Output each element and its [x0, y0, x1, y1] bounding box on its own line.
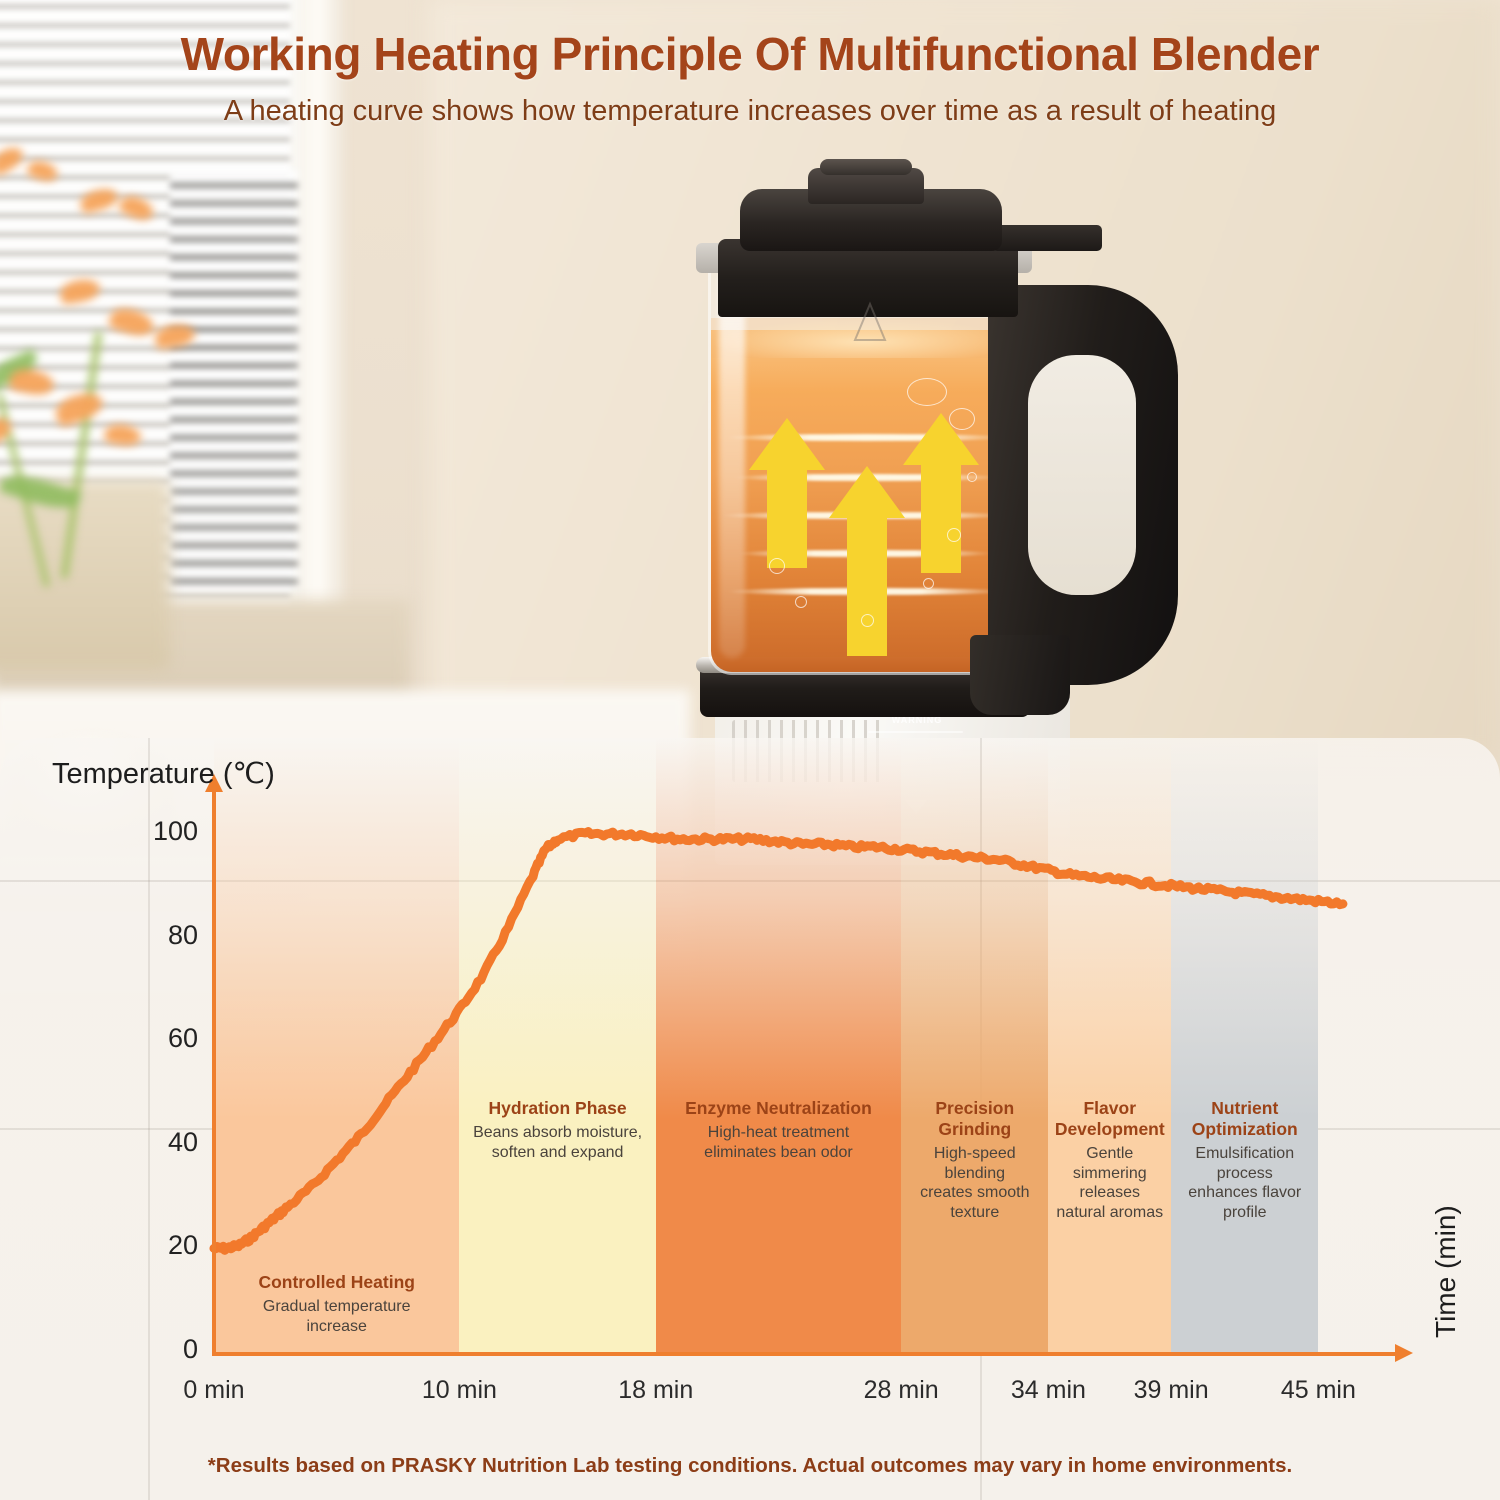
- phase-title: Hydration Phase: [465, 1098, 649, 1119]
- x-axis-line: [212, 1352, 1397, 1356]
- phase-band: [656, 738, 901, 1352]
- x-tick-label: 45 min: [1238, 1376, 1398, 1405]
- y-tick-label: 20: [108, 1230, 198, 1261]
- steam-vent-icon: [845, 300, 895, 348]
- x-tick-label: 28 min: [821, 1376, 981, 1405]
- phase-band: [901, 738, 1048, 1352]
- phase-title: Nutrient Optimization: [1177, 1098, 1312, 1140]
- x-tick-label: 0 min: [134, 1376, 294, 1405]
- y-tick-label: 80: [108, 920, 198, 951]
- x-axis-label: Time (min): [1430, 1205, 1462, 1338]
- handle-lower-joint: [970, 635, 1070, 715]
- blender-product-image: WARNING: [640, 165, 1220, 765]
- phase-title: Precision Grinding: [907, 1098, 1042, 1140]
- y-tick-label: 60: [108, 1023, 198, 1054]
- phase-description: Emulsification processenhances flavor pr…: [1177, 1144, 1312, 1222]
- y-tick-label: 100: [108, 816, 198, 847]
- phase-label: Flavor DevelopmentGentle simmeringreleas…: [1048, 1098, 1171, 1222]
- lid-cap-top: [820, 159, 912, 175]
- phase-band: [459, 738, 655, 1352]
- y-tick-label: 0: [108, 1334, 198, 1365]
- footnote-text: *Results based on PRASKY Nutrition Lab t…: [0, 1454, 1500, 1478]
- y-axis-line: [212, 790, 216, 1356]
- orange-flowers: [0, 180, 240, 600]
- phase-description: High-speed blendingcreates smooth textur…: [907, 1144, 1042, 1222]
- phase-description: High-heat treatmenteliminates bean odor: [662, 1123, 895, 1162]
- phase-label: Hydration PhaseBeans absorb moisture,sof…: [459, 1098, 655, 1162]
- phase-label: Controlled HeatingGradual temperatureinc…: [214, 1272, 459, 1336]
- phase-band: [1171, 738, 1318, 1352]
- warning-rule-bottom: [868, 731, 963, 733]
- y-axis-label: Temperature (℃): [52, 756, 275, 791]
- phase-label: Enzyme NeutralizationHigh-heat treatment…: [656, 1098, 901, 1162]
- page-subtitle: A heating curve shows how temperature in…: [0, 95, 1500, 128]
- phase-description: Gradual temperatureincrease: [220, 1297, 453, 1336]
- plot-area: Controlled HeatingGradual temperatureinc…: [0, 738, 1500, 1500]
- lid-tab: [992, 225, 1102, 251]
- phase-title: Flavor Development: [1054, 1098, 1165, 1140]
- x-tick-label: 18 min: [576, 1376, 736, 1405]
- phase-label: Nutrient OptimizationEmulsification proc…: [1171, 1098, 1318, 1222]
- phase-band: [1048, 738, 1171, 1352]
- jar-highlight: [719, 268, 745, 658]
- chart-panel: Controlled HeatingGradual temperatureinc…: [0, 738, 1500, 1500]
- x-axis-arrowhead: [1395, 1344, 1413, 1362]
- x-tick-label: 10 min: [379, 1376, 539, 1405]
- header: Working Heating Principle Of Multifuncti…: [0, 28, 1500, 128]
- phase-title: Enzyme Neutralization: [662, 1098, 895, 1119]
- phase-label: Precision GrindingHigh-speed blendingcre…: [901, 1098, 1048, 1222]
- handle-opening: [1028, 355, 1136, 595]
- phase-title: Controlled Heating: [220, 1272, 453, 1293]
- phase-description: Beans absorb moisture,soften and expand: [465, 1123, 649, 1162]
- y-tick-label: 40: [108, 1127, 198, 1158]
- page-title: Working Heating Principle Of Multifuncti…: [0, 28, 1500, 81]
- phase-description: Gentle simmeringreleases natural aromas: [1054, 1144, 1165, 1222]
- x-tick-label: 39 min: [1091, 1376, 1251, 1405]
- phase-band: [214, 738, 459, 1352]
